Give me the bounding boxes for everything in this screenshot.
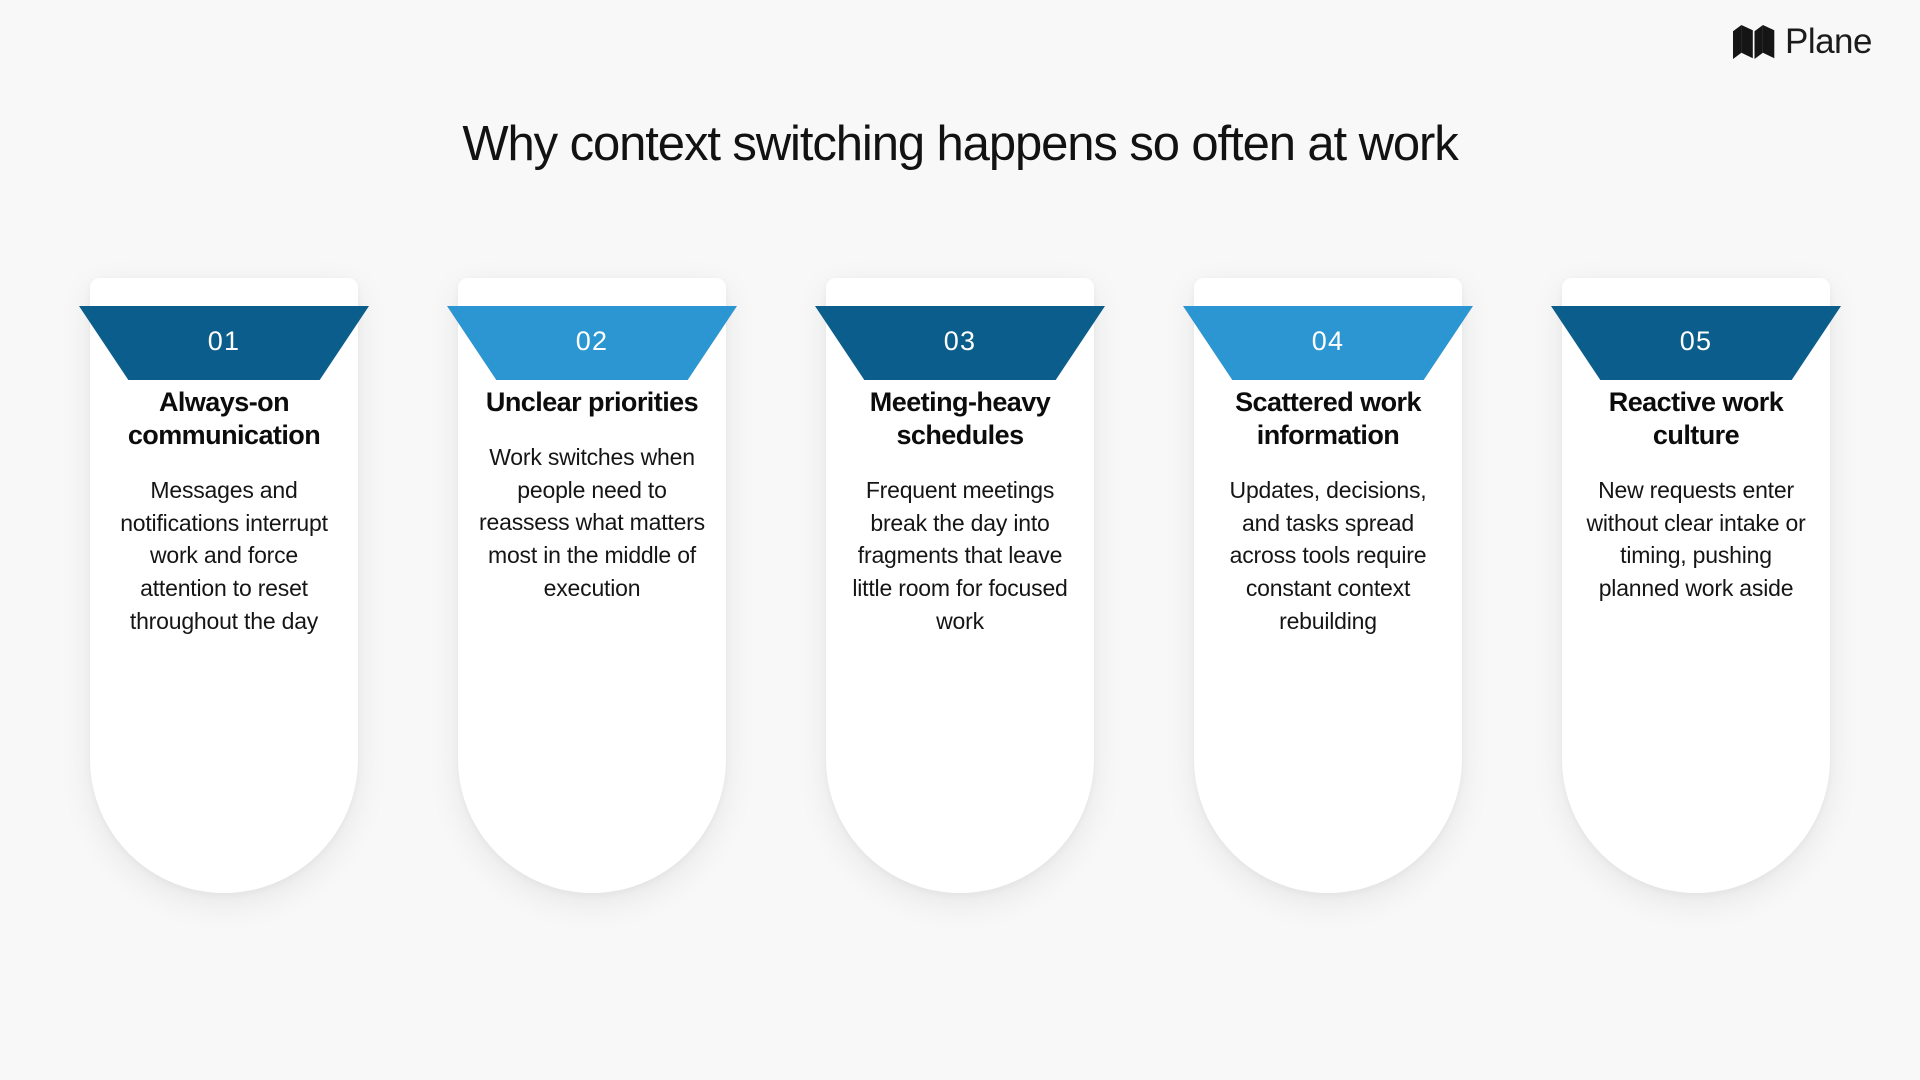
card-item: 02 Unclear priorities Work switches when… <box>458 278 726 893</box>
ribbon-banner: 03 <box>815 306 1105 380</box>
brand-name: Plane <box>1785 24 1872 59</box>
card-description: Updates, decisions, and tasks spread acr… <box>1212 474 1444 637</box>
card-number: 03 <box>944 328 976 359</box>
card-item: 05 Reactive work culture New requests en… <box>1562 278 1830 893</box>
page-title: Why context switching happens so often a… <box>0 118 1920 172</box>
card-description: Frequent meetings break the day into fra… <box>844 474 1076 637</box>
card-number: 02 <box>576 328 608 359</box>
card-item: 01 Always-on communication Messages and … <box>90 278 358 893</box>
card-heading: Reactive work culture <box>1580 386 1812 452</box>
card-item: 03 Meeting-heavy schedules Frequent meet… <box>826 278 1094 893</box>
card-number: 05 <box>1680 328 1712 359</box>
card-item: 04 Scattered work information Updates, d… <box>1194 278 1462 893</box>
card-number: 04 <box>1312 328 1344 359</box>
brand-logo: Plane <box>1733 24 1872 59</box>
card-row: 01 Always-on communication Messages and … <box>0 278 1920 893</box>
card-description: Work switches when people need to reasse… <box>476 441 708 604</box>
card-heading: Unclear priorities <box>476 386 708 419</box>
card-description: New requests enter without clear intake … <box>1580 474 1812 605</box>
ribbon-banner: 05 <box>1551 306 1841 380</box>
plane-logo-mark <box>1733 25 1775 59</box>
ribbon-banner: 02 <box>447 306 737 380</box>
ribbon-banner: 04 <box>1183 306 1473 380</box>
card-description: Messages and notifications interrupt wor… <box>108 474 340 637</box>
card-number: 01 <box>208 328 240 359</box>
ribbon-banner: 01 <box>79 306 369 380</box>
card-heading: Scattered work information <box>1212 386 1444 452</box>
card-heading: Meeting-heavy schedules <box>844 386 1076 452</box>
card-heading: Always-on communication <box>108 386 340 452</box>
